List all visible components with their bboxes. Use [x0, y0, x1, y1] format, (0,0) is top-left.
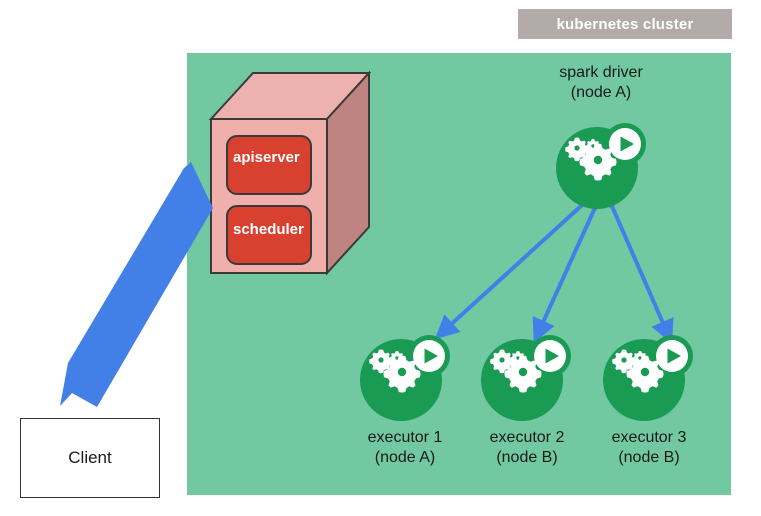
executor-3-name: executor 3	[574, 428, 724, 448]
spark-pod-gears-icon	[360, 335, 450, 421]
apiserver-label: apiserver	[233, 149, 300, 166]
pod-executor-3[interactable]	[600, 330, 694, 424]
executor-3-node: (node B)	[574, 448, 724, 468]
architecture-diagram: kubernetes cluster apiserver scheduler	[0, 0, 761, 516]
spark-submit-arrow	[60, 162, 215, 407]
scheduler-label: scheduler	[233, 221, 304, 238]
caption-spark-driver: spark driver (node A)	[521, 63, 681, 103]
control-plane-cube	[205, 66, 375, 278]
spark-pod-gears-icon	[556, 123, 646, 209]
pod-executor-1[interactable]	[357, 330, 451, 424]
pod-spark-driver[interactable]	[553, 118, 647, 212]
client-label: Client	[68, 448, 111, 468]
pod-executor-2[interactable]	[478, 330, 572, 424]
driver-name: spark driver	[521, 63, 681, 83]
spark-pod-gears-icon	[481, 335, 571, 421]
client-box[interactable]: Client	[20, 418, 160, 498]
driver-node: (node A)	[521, 83, 681, 103]
caption-executor-3: executor 3 (node B)	[574, 428, 724, 468]
kubernetes-cluster-badge: kubernetes cluster	[518, 9, 732, 39]
spark-pod-gears-icon	[603, 335, 693, 421]
